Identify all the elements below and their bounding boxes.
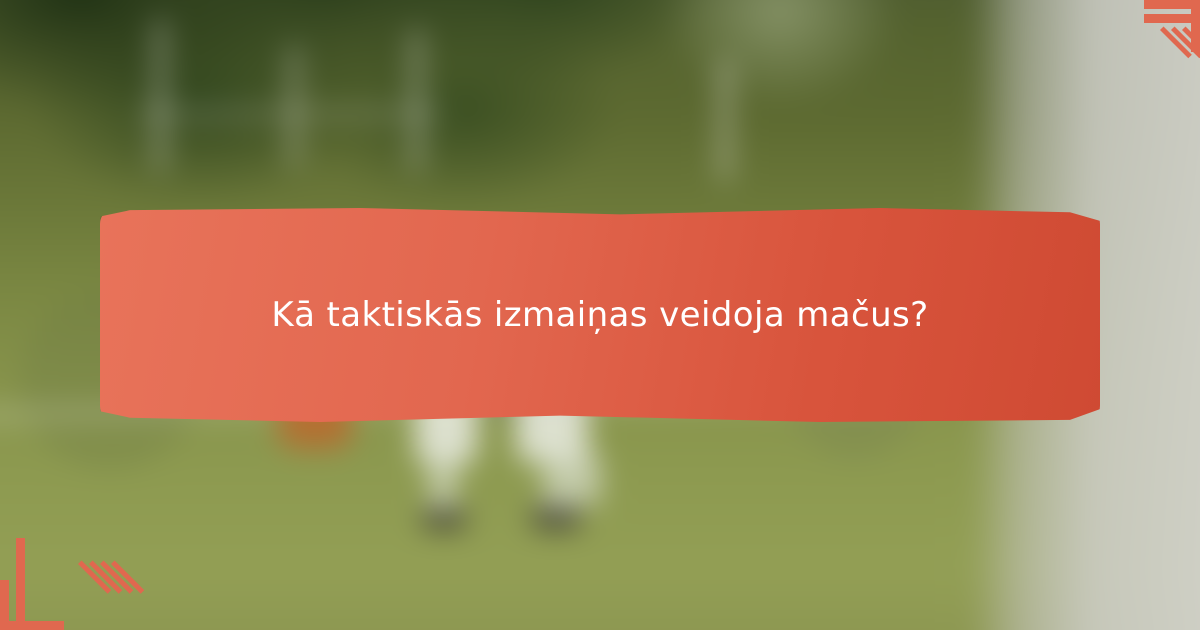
- sky-gap: [660, 0, 920, 150]
- player-boot-2: [532, 506, 580, 530]
- page-title: Kā taktiskās izmaiņas veidoja mačus?: [223, 293, 976, 337]
- share-card: Kā taktiskās izmaiņas veidoja mačus?: [0, 0, 1200, 630]
- player-leg-3: [576, 452, 600, 506]
- title-banner: Kā taktiskās izmaiņas veidoja mačus?: [100, 208, 1100, 422]
- corner-stripes-bottom-left-icon: [0, 490, 170, 630]
- goal-crossbar: [140, 110, 440, 117]
- player-leg-1: [430, 458, 456, 514]
- goal-post-2: [290, 46, 298, 166]
- goal-post-3: [412, 30, 421, 170]
- player-boot-1: [422, 508, 466, 530]
- goal-post-4: [720, 60, 730, 180]
- goal-post-1: [156, 20, 165, 170]
- corner-stripes-top-right-icon: [1040, 0, 1200, 100]
